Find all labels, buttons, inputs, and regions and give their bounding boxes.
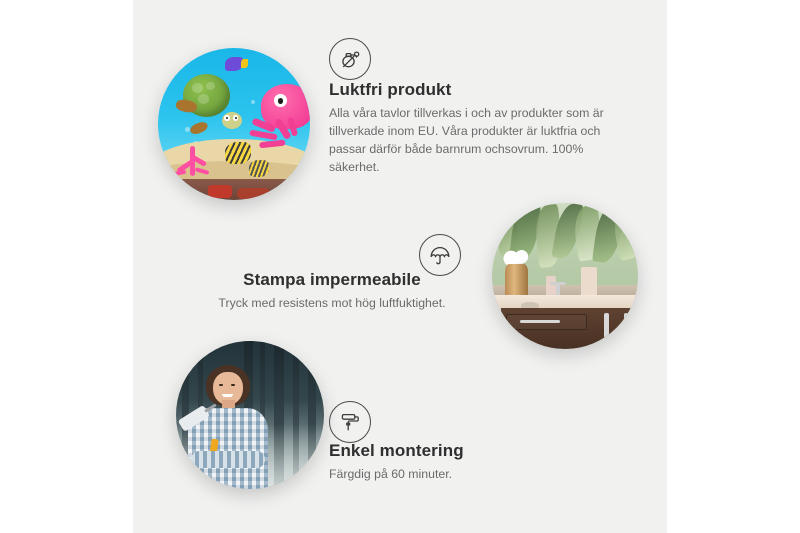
paint-roller-icon xyxy=(329,401,371,443)
feature-waterproof: Stampa impermeabile Tryck med resistens … xyxy=(183,270,481,313)
feature-title: Luktfri produkt xyxy=(329,80,624,100)
feature-body: Alla våra tavlor tillverkas i och av pro… xyxy=(329,105,624,176)
feature-title: Stampa impermeabile xyxy=(183,270,481,290)
feature-odourless: Luktfri produkt Alla våra tavlor tillver… xyxy=(329,80,624,177)
feature-title: Enkel montering xyxy=(329,441,619,461)
vanity-graphic xyxy=(501,308,638,349)
feature-body: Tryck med resistens mot hög luftfuktighe… xyxy=(183,295,481,313)
feature-easy-mount: Enkel montering Färgdig på 60 minuter. xyxy=(329,441,619,484)
bathroom-wallpaper-photo xyxy=(492,203,638,349)
octopus-graphic xyxy=(249,84,310,160)
turtle-graphic xyxy=(179,74,240,132)
no-fragrance-icon xyxy=(329,38,371,80)
feature-body: Färgdig på 60 minuter. xyxy=(329,466,619,484)
forest-wallpaper-photo xyxy=(176,341,324,489)
underwater-cartoon-photo xyxy=(158,48,310,200)
coral-graphic xyxy=(172,136,215,176)
promo-banner: Luktfri produkt Alla våra tavlor tillver… xyxy=(0,0,800,533)
